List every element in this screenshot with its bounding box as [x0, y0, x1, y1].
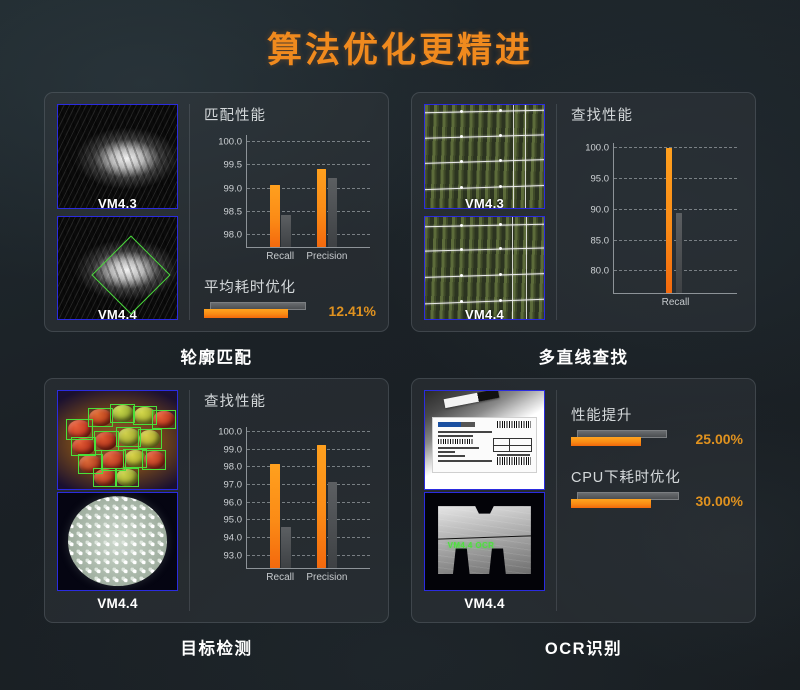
- gridline: 98.5: [247, 211, 370, 212]
- progress-bar: [571, 430, 687, 448]
- apple-detection-image: [58, 391, 177, 489]
- gridline: 94.0: [247, 537, 370, 538]
- bar-recall-vm44: [270, 464, 279, 568]
- progress-row: 12.41%: [204, 302, 376, 320]
- bar-recall-vm43: [281, 215, 290, 247]
- progress-label: 平均耗时优化: [204, 276, 376, 297]
- gridline: 99.0: [247, 449, 370, 450]
- gridline: 98.0: [247, 234, 370, 235]
- progress-bar: [571, 492, 687, 510]
- gridline: 100.0: [614, 147, 737, 148]
- stats-column: 性能提升 25.00% CPU下耗时优化: [567, 390, 743, 611]
- y-axis-tick: 93.0: [224, 550, 243, 561]
- y-axis-tick: 95.0: [224, 515, 243, 526]
- y-axis-tick: 80.0: [591, 266, 610, 277]
- chart-plot-area: 98.0 98.5 99.0 99.5 100.0: [246, 135, 370, 248]
- panel-caption-object-detection: 目标检测: [44, 635, 389, 659]
- chart-plot-area: 80.0 85.0 90.0 95.0 100.0: [613, 143, 737, 294]
- gridline: 95.0: [247, 519, 370, 520]
- thumbnail-column: VM4.3: [424, 104, 557, 320]
- panel-contour-matching: VM4.3 VM4.4 匹配性能 98.0: [44, 92, 389, 332]
- thumbnail-column: VM4.4: [57, 390, 190, 611]
- spec-table: [493, 438, 532, 452]
- line-detection-image: [425, 105, 544, 208]
- bar-recall-vm44: [270, 185, 279, 247]
- progress-row: 25.00%: [571, 430, 743, 448]
- barcode-top: [497, 421, 531, 428]
- gridline: 100.0: [247, 141, 370, 142]
- thumbnail-vm44[interactable]: VM4.4: [57, 216, 178, 321]
- thumbnail-column: VM4.3 VM4.4: [57, 104, 190, 320]
- bar-precision-vm43: [328, 482, 337, 568]
- metal-bracket-image: VM4.4 OCR: [425, 493, 544, 591]
- bar-recall-vm43: [676, 213, 683, 293]
- gridline: 90.0: [614, 209, 737, 210]
- thumbnail-product-label[interactable]: [424, 390, 545, 490]
- y-axis-tick: 94.0: [224, 532, 243, 543]
- barcode-bottom: [497, 457, 531, 466]
- y-axis-tick: 100.0: [218, 136, 242, 147]
- gridline: 96.0: [247, 502, 370, 503]
- chart-matching-performance: 98.0 98.5 99.0 99.5 100.0: [204, 129, 376, 270]
- panel-caption-contour-matching: 轮廓匹配: [44, 344, 389, 368]
- panel-grid: VM4.3 VM4.4 匹配性能 98.0: [44, 92, 756, 659]
- page-title: 算法优化更精进: [0, 22, 800, 73]
- thumbnail-label: VM4.4: [58, 307, 177, 320]
- stats-column: 查找性能 93.0 94.0 95.0: [200, 390, 376, 611]
- y-axis-tick: 100.0: [218, 427, 242, 438]
- bar-precision-vm43: [328, 178, 337, 247]
- product-label-image: [425, 391, 544, 489]
- barcode-mid: [438, 439, 473, 444]
- y-axis-tick: 95.0: [591, 173, 610, 184]
- x-axis-tick: Precision: [306, 251, 347, 262]
- thumbnail-apples[interactable]: [57, 390, 178, 490]
- chart-title: 匹配性能: [204, 104, 376, 125]
- pearl-detection-image: [58, 493, 177, 591]
- x-axis-tick: Recall: [266, 251, 294, 262]
- thumbnail-label: VM4.3: [425, 196, 544, 209]
- bar-recall-vm44: [666, 148, 673, 293]
- panel-cell-ocr: VM4.4 OCR VM4.4 性能提升 25.00%: [411, 378, 756, 659]
- chart-plot-area: 93.0 94.0 95.0 96.0 97.0: [246, 427, 370, 569]
- panel-ocr: VM4.4 OCR VM4.4 性能提升 25.00%: [411, 378, 756, 623]
- y-axis-tick: 99.0: [224, 444, 243, 455]
- progress-row: 30.00%: [571, 492, 743, 510]
- tilted-label-strip: [444, 390, 499, 408]
- x-axis-tick: Recall: [266, 572, 294, 583]
- y-axis-tick: 99.0: [224, 183, 243, 194]
- y-axis-tick: 98.0: [224, 462, 243, 473]
- y-axis-tick: 96.0: [224, 497, 243, 508]
- progress-block-performance: 性能提升 25.00%: [571, 404, 743, 448]
- y-axis-tick: 85.0: [591, 235, 610, 246]
- gridline: 100.0: [247, 431, 370, 432]
- thumbnail-label: VM4.4: [424, 596, 545, 611]
- bar-precision-vm44: [317, 445, 326, 568]
- progress-block-avg-time: 平均耗时优化 12.41%: [204, 276, 376, 320]
- progress-value: 30.00%: [696, 493, 743, 509]
- x-axis-tick: Recall: [662, 297, 690, 308]
- gridline: 98.0: [247, 466, 370, 467]
- thumbnail-label: VM4.4: [425, 307, 544, 320]
- panel-multi-line-find: VM4.3: [411, 92, 756, 332]
- gridline: 99.0: [247, 188, 370, 189]
- x-axis-tick: Precision: [306, 572, 347, 583]
- gridline: 97.0: [247, 484, 370, 485]
- thumbnail-label: VM4.4: [57, 596, 178, 611]
- gridline: 95.0: [614, 178, 737, 179]
- progress-label: CPU下耗时优化: [571, 466, 743, 487]
- progress-fill: [204, 309, 288, 318]
- progress-fill: [571, 437, 641, 446]
- y-axis-tick: 98.5: [224, 206, 243, 217]
- panel-caption-multi-line-find: 多直线查找: [411, 344, 756, 368]
- progress-fill: [571, 499, 651, 508]
- gridline: 99.5: [247, 164, 370, 165]
- label-card: [432, 417, 537, 473]
- y-axis-tick: 97.0: [224, 480, 243, 491]
- y-axis-tick: 90.0: [591, 204, 610, 215]
- panel-object-detection: VM4.4 查找性能 93.0 94.0 95.0: [44, 378, 389, 623]
- thumbnail-vm43[interactable]: VM4.3: [57, 104, 178, 209]
- bar-recall-vm43: [281, 527, 290, 568]
- thumbnail-vm44[interactable]: VM4.4: [424, 216, 545, 321]
- line-detection-image: [425, 217, 544, 320]
- thumbnail-label: VM4.3: [58, 196, 177, 209]
- y-axis-tick: 99.5: [224, 160, 243, 171]
- panel-cell-contour-matching: VM4.3 VM4.4 匹配性能 98.0: [44, 92, 389, 368]
- brand-mark: [438, 422, 475, 427]
- progress-bar: [204, 302, 320, 320]
- progress-label: 性能提升: [571, 404, 743, 425]
- stats-column: 匹配性能 98.0 98.5 99.0: [200, 104, 376, 320]
- chart-title: 查找性能: [571, 104, 743, 125]
- panel-cell-multi-line-find: VM4.3: [411, 92, 756, 368]
- y-axis-tick: 98.0: [224, 230, 243, 241]
- chart-find-performance-detection: 93.0 94.0 95.0 96.0 97.0: [204, 415, 376, 611]
- stats-column: 查找性能 80.0 85.0 90.0: [567, 104, 743, 320]
- bar-precision-vm44: [317, 169, 326, 247]
- thumbnail-bracket[interactable]: VM4.4 OCR: [424, 492, 545, 592]
- thumbnail-column: VM4.4 OCR VM4.4: [424, 390, 557, 611]
- progress-value: 12.41%: [329, 303, 376, 319]
- thumbnail-pearls[interactable]: [57, 492, 178, 592]
- chart-find-performance: 80.0 85.0 90.0 95.0 100.0: [571, 129, 743, 320]
- chart-title: 查找性能: [204, 390, 376, 411]
- ocr-result-text: VM4.4 OCR: [448, 541, 495, 550]
- progress-value: 25.00%: [696, 431, 743, 447]
- metal-sample-image: [58, 105, 177, 208]
- progress-block-cpu-time: CPU下耗时优化 30.00%: [571, 466, 743, 510]
- panel-caption-ocr: OCR识别: [411, 635, 756, 659]
- gridline: 93.0: [247, 555, 370, 556]
- thumbnail-vm43[interactable]: VM4.3: [424, 104, 545, 209]
- y-axis-tick: 100.0: [585, 142, 609, 153]
- panel-cell-object-detection: VM4.4 查找性能 93.0 94.0 95.0: [44, 378, 389, 659]
